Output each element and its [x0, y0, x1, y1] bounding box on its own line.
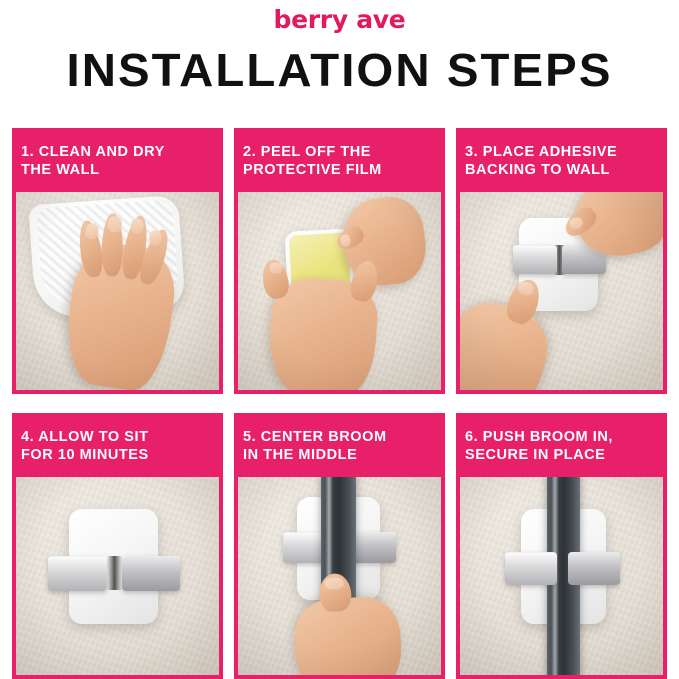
step-card-6: 6. PUSH BROOM IN, SECURE IN PLACE	[456, 413, 667, 679]
step-label-5: 5. CENTER BROOM IN THE MIDDLE	[234, 413, 445, 477]
step-label-2: 2. PEEL OFF THE PROTECTIVE FILM	[234, 128, 445, 192]
photo-vignette	[460, 192, 663, 390]
page-title: INSTALLATION STEPS	[0, 45, 679, 95]
step-card-1: 1. CLEAN AND DRY THE WALL	[12, 128, 223, 394]
step-photo-6	[460, 477, 663, 675]
step-card-2: 2. PEEL OFF THE PROTECTIVE FILM	[234, 128, 445, 394]
photo-vignette	[16, 192, 219, 390]
step-photo-5	[238, 477, 441, 675]
step-photo-4	[16, 477, 219, 675]
brand-header: berry ave	[0, 0, 679, 37]
step-photo-1	[16, 192, 219, 390]
photo-vignette	[238, 477, 441, 675]
photo-vignette	[460, 477, 663, 675]
step-card-5: 5. CENTER BROOM IN THE MIDDLE	[234, 413, 445, 679]
steps-grid: 1. CLEAN AND DRY THE WALL 2. PE	[12, 128, 667, 679]
photo-vignette	[238, 192, 441, 390]
step-card-4: 4. ALLOW TO SIT FOR 10 MINUTES	[12, 413, 223, 679]
step-label-3: 3. PLACE ADHESIVE BACKING TO WALL	[456, 128, 667, 192]
brand-logo: berry ave	[274, 7, 406, 33]
step-label-4: 4. ALLOW TO SIT FOR 10 MINUTES	[12, 413, 223, 477]
step-label-1: 1. CLEAN AND DRY THE WALL	[12, 128, 223, 192]
step-card-3: 3. PLACE ADHESIVE BACKING TO WALL	[456, 128, 667, 394]
installation-steps-infographic: berry ave INSTALLATION STEPS 1. CLEAN AN…	[0, 0, 679, 678]
photo-vignette	[16, 477, 219, 675]
step-photo-2	[238, 192, 441, 390]
step-label-6: 6. PUSH BROOM IN, SECURE IN PLACE	[456, 413, 667, 477]
step-photo-3	[460, 192, 663, 390]
